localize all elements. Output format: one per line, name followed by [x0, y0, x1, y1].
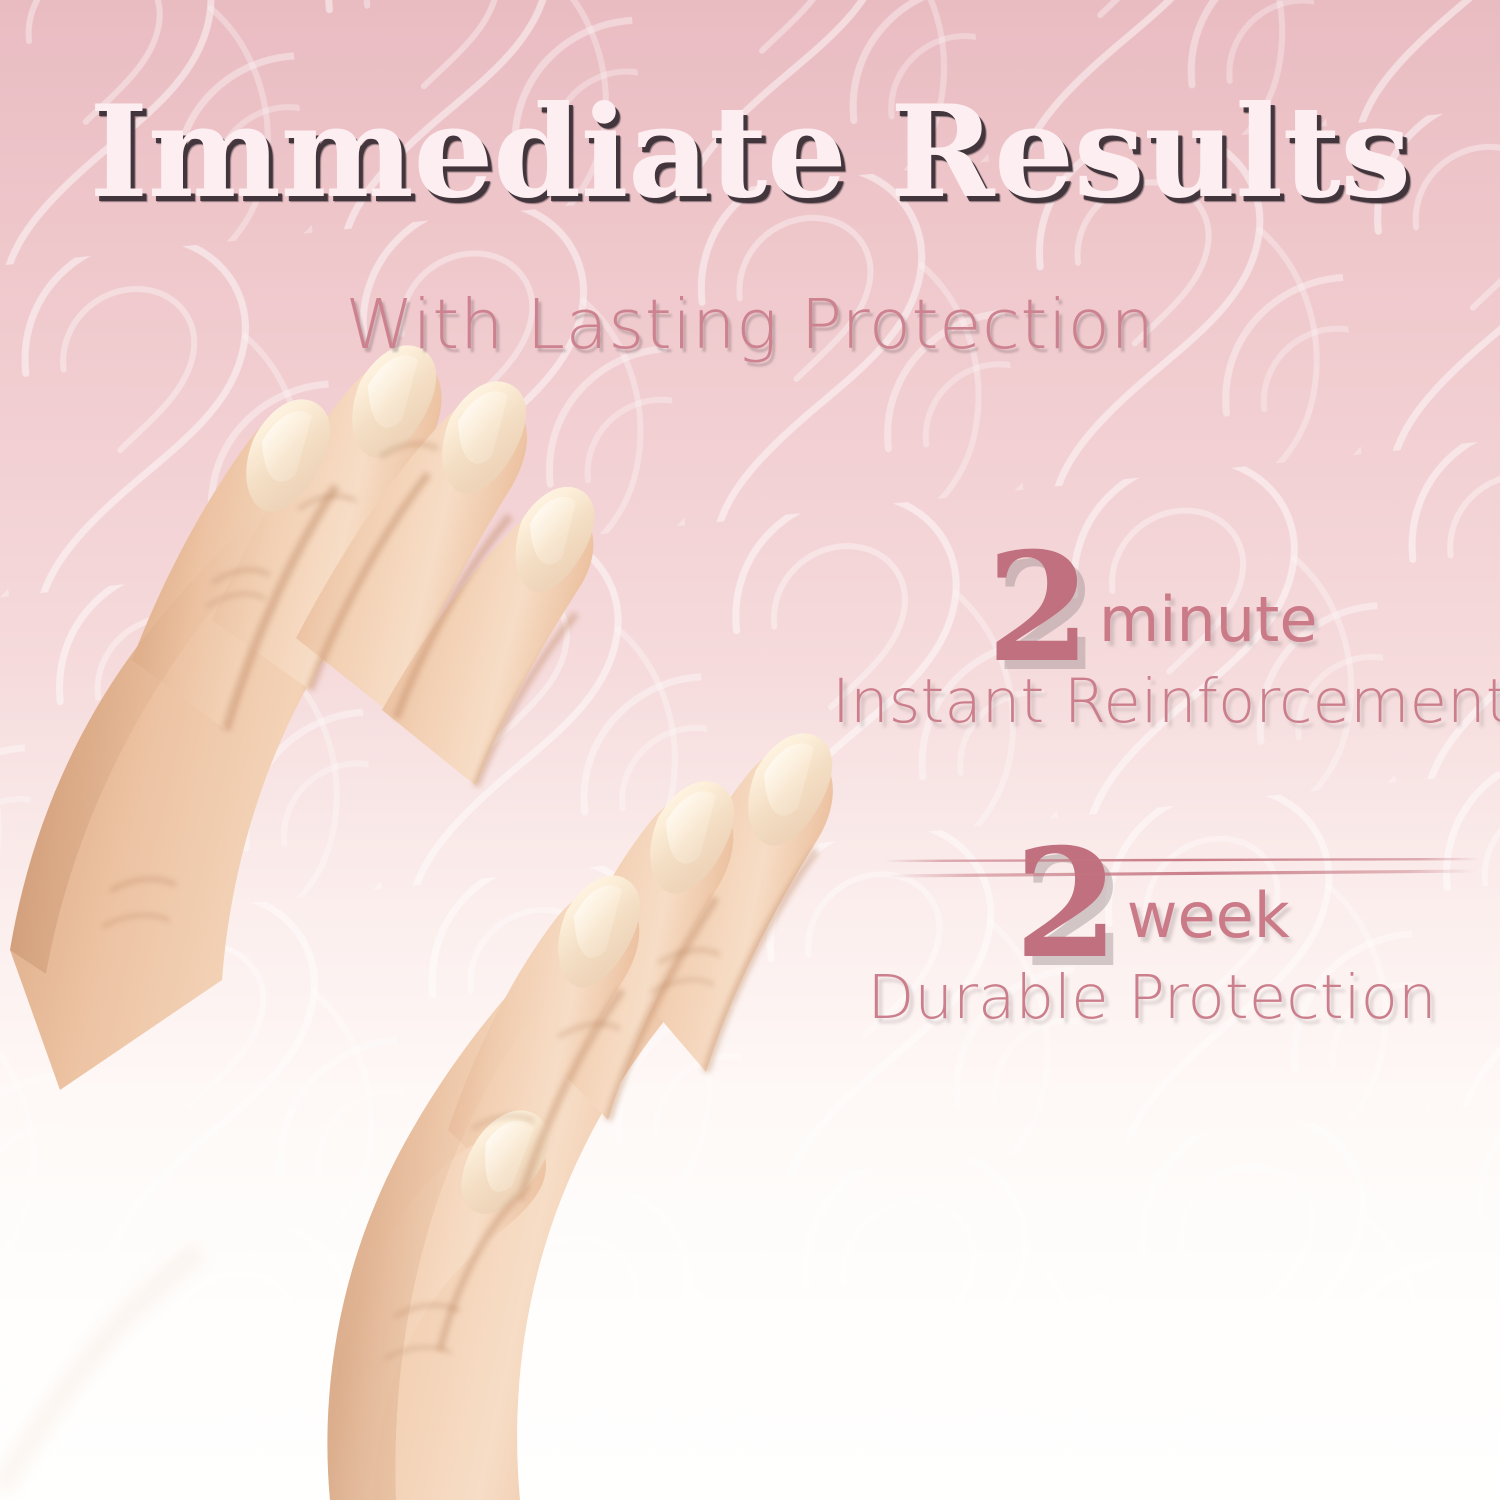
claim-durable-protection: 2 week Durable Protection — [832, 836, 1472, 1028]
claim-number: 2 — [986, 544, 1090, 673]
page-subtitle: With Lasting Protection — [0, 285, 1500, 365]
claim-unit: week — [1127, 885, 1290, 965]
claim-description: Durable Protection — [832, 967, 1472, 1028]
page-title: Immediate Results — [0, 88, 1500, 217]
promo-banner: Immediate Results With Lasting Protectio… — [0, 0, 1500, 1500]
claim-description: Instant Reinforcement — [832, 671, 1472, 732]
claim-unit: minute — [1099, 589, 1318, 669]
claims-list: 2 minute Instant Reinforcement 2 week Du… — [832, 540, 1472, 1028]
claim-headline-row: 2 minute — [832, 540, 1472, 669]
claim-instant-reinforcement: 2 minute Instant Reinforcement — [832, 540, 1472, 732]
claim-headline-row: 2 week — [832, 836, 1472, 965]
claim-number: 2 — [1014, 840, 1118, 969]
